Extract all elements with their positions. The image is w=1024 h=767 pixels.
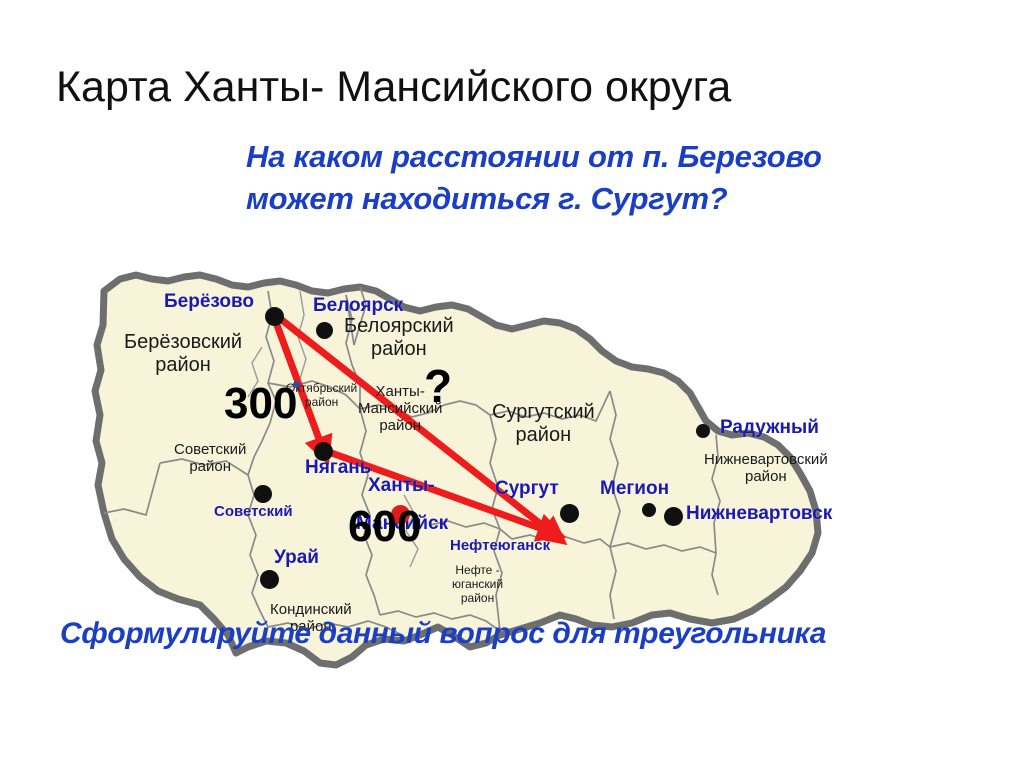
city-label-uray: Урай [274, 547, 319, 569]
city-label-berezovo: Берёзово [164, 291, 254, 313]
district-label-sovetsky: Советскийрайон [174, 441, 246, 475]
slide-canvas: Карта Ханты- Мансийского округа На каком… [0, 0, 1024, 767]
city-dot-uray [260, 570, 279, 589]
district-label-nefteyugansky: Нефте -юганскийрайон [452, 563, 503, 605]
city-label-raduzhny: Радужный [720, 417, 819, 439]
annotation-distance-600: 600 [348, 505, 421, 549]
city-label-khanty: Ханты- [368, 475, 435, 497]
city-label-beloyarsk: Белоярск [313, 295, 403, 317]
city-label-megion: Мегион [600, 478, 669, 500]
district-label-beloyarsky: Белоярскийрайон [344, 315, 454, 361]
district-label-nizhnevartovsky: Нижневартовскийрайон [704, 451, 828, 485]
city-dot-berezovo [265, 307, 284, 326]
city-dot-raduzhny [696, 424, 710, 438]
city-label-nefteyugansk: Нефтеюганск [450, 537, 550, 554]
city-dot-beloyarsk [316, 322, 333, 339]
annotation-distance-300: 300 [224, 382, 297, 426]
question-line-1: На каком расстоянии от п. Березово [246, 136, 986, 178]
page-title: Карта Ханты- Мансийского округа [56, 62, 976, 112]
city-dot-surgut [560, 504, 579, 523]
city-label-sovetskiy: Советский [214, 503, 293, 520]
annotation-unknown-distance: ? [424, 363, 452, 409]
city-dot-nizhnevartovsk [664, 507, 683, 526]
city-label-surgut: Сургут [495, 478, 559, 500]
city-label-nyagan: Нягань [305, 457, 371, 479]
bottom-caption: Сформулируйте данный вопрос для треуголь… [60, 617, 1020, 651]
district-label-surgutsky: Сургутскийрайон [492, 401, 595, 447]
city-label-nizhnevartovsk: Нижневартовск [686, 503, 832, 525]
district-label-berezovsky: Берёзовскийрайон [124, 331, 242, 377]
city-dot-sovetskiy [254, 485, 272, 503]
city-dot-nyagan [314, 442, 333, 461]
city-dot-megion [642, 503, 656, 517]
